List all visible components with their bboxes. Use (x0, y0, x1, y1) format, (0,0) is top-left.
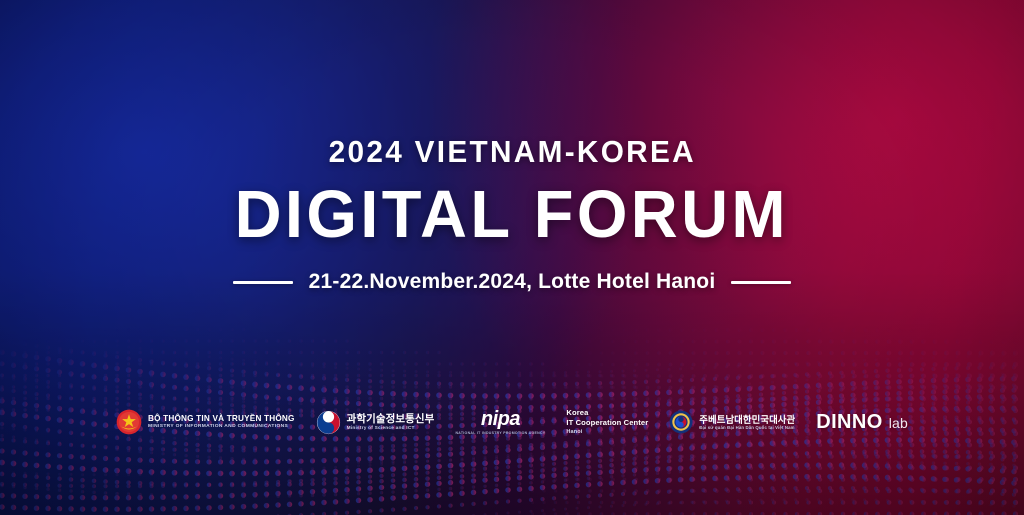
logo-korea-embassy-vietnam: 주베트남대한민국대사관 Đại sứ quán Đại Hàn Dân Quốc… (669, 410, 795, 434)
logo-korea-embassy-line2: Đại sứ quán Đại Hàn Dân Quốc tại Việt Na… (699, 425, 795, 431)
logo-kitcc-line3: Hanoi (566, 429, 648, 437)
rule-left (233, 281, 293, 284)
logo-korea-msit: 과학기술정보통신부 Ministry of Science and ICT (316, 410, 435, 435)
logo-kitcc-text: Korea IT Cooperation Center Hanoi (566, 408, 648, 437)
logo-dinnolab: DINNO lab (816, 411, 908, 434)
logo-korea-msit-line2: Ministry of Science and ICT (347, 426, 435, 432)
logo-vietnam-mic-line2: MINISTRY OF INFORMATION AND COMMUNICATIO… (148, 424, 295, 430)
logo-nipa-text: nipa NATIONAL IT INDUSTRY PROMOTION AGEN… (455, 409, 545, 435)
logo-nipa-wordmark: nipa (481, 409, 520, 429)
korea-embassy-emblem-icon (669, 410, 693, 434)
logo-korea-it-cooperation-center: Korea IT Cooperation Center Hanoi (566, 408, 648, 437)
logo-vietnam-mic-line1: BỘ THÔNG TIN VÀ TRUYỀN THÔNG (148, 414, 295, 424)
logo-dinnolab-main: DINNO (816, 411, 882, 434)
logo-korea-embassy-line1: 주베트남대한민국대사관 (699, 414, 795, 425)
date-venue-text: 21-22.November.2024, Lotte Hotel Hanoi (309, 270, 716, 294)
logo-nipa: nipa NATIONAL IT INDUSTRY PROMOTION AGEN… (455, 409, 545, 435)
partner-logo-strip: BỘ THÔNG TIN VÀ TRUYỀN THÔNG MINISTRY OF… (0, 408, 1024, 437)
event-kicker: 2024 VIETNAM-KOREA (328, 134, 695, 170)
logo-kitcc-line1: Korea (566, 408, 648, 418)
event-title: DIGITAL FORUM (235, 181, 789, 248)
logo-nipa-subtitle: NATIONAL IT INDUSTRY PROMOTION AGENCY (455, 431, 545, 435)
logo-vietnam-mic: BỘ THÔNG TIN VÀ TRUYỀN THÔNG MINISTRY OF… (116, 409, 295, 435)
logo-dinnolab-sub: lab (889, 415, 908, 431)
logo-vietnam-mic-text: BỘ THÔNG TIN VÀ TRUYỀN THÔNG MINISTRY OF… (148, 414, 295, 431)
banner-content: 2024 VIETNAM-KOREA DIGITAL FORUM 21-22.N… (0, 0, 1024, 515)
logo-korea-embassy-text: 주베트남대한민국대사관 Đại sứ quán Đại Hàn Dân Quốc… (699, 414, 795, 431)
vietnam-national-emblem-icon (116, 409, 142, 435)
korea-taegeuk-emblem-icon (316, 410, 341, 435)
event-banner: 2024 VIETNAM-KOREA DIGITAL FORUM 21-22.N… (0, 0, 1024, 515)
logo-kitcc-line2: IT Cooperation Center (566, 418, 648, 428)
logo-korea-msit-text: 과학기술정보통신부 Ministry of Science and ICT (347, 413, 435, 432)
date-venue-row: 21-22.November.2024, Lotte Hotel Hanoi (233, 270, 792, 294)
logo-korea-msit-line1: 과학기술정보통신부 (347, 413, 435, 426)
rule-right (731, 281, 791, 284)
